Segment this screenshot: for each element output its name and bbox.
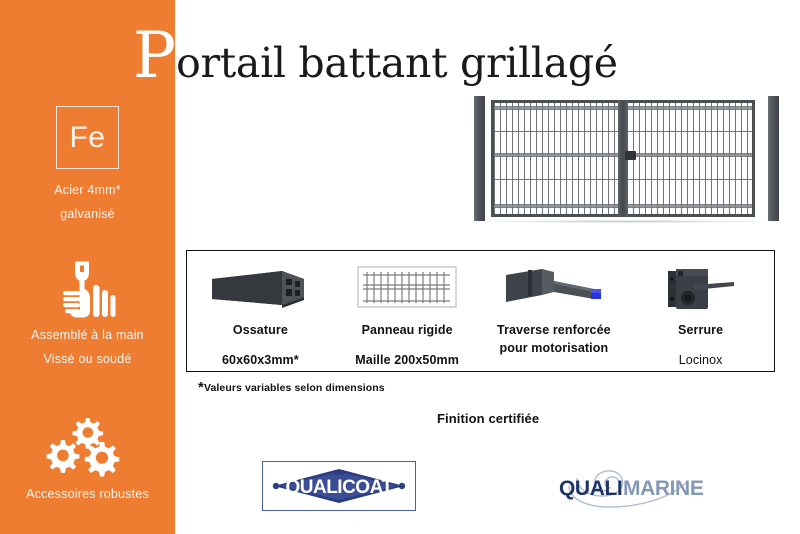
spec-item-traverse: Traverse renforcée pour motorisation xyxy=(481,251,628,357)
qualimarine-logo-text-primary: QUALI xyxy=(559,477,622,500)
page-title-dropcap: P xyxy=(133,19,176,93)
spec-item-serrure-line2: Locinox xyxy=(679,351,723,369)
gate-mesh-line-right-1 xyxy=(627,131,752,132)
qualimarine-logo-text-secondary: MARINE xyxy=(623,477,704,500)
gate-mesh-band-bottom-left xyxy=(494,204,619,208)
gate-post-right xyxy=(768,96,779,221)
gate-mesh-right xyxy=(627,103,752,214)
qualimarine-logo: QUALI MARINE QUALI MARINE xyxy=(550,464,710,510)
lock-icon xyxy=(658,261,744,317)
qualicoat-logo-text: QUALICOAT xyxy=(285,477,393,498)
gate-mesh-left xyxy=(494,103,619,214)
hand-wrench-icon xyxy=(0,255,175,319)
gate-mesh-band-mid-right xyxy=(627,153,752,157)
gate-mesh-band-top-left xyxy=(494,106,619,110)
gate-mesh-band-bottom-right xyxy=(627,204,752,208)
page-title: Portail battant grillagé xyxy=(133,24,618,88)
sidebar-feature-steel: Fe Acier 4mm* galvanisé xyxy=(0,106,175,225)
sidebar-feature-accessories-line1: Accessoires robustes xyxy=(0,485,175,504)
spec-item-panneau-line2: Maille 200x50mm xyxy=(355,351,459,369)
spec-item-ossature-line1: Ossature xyxy=(233,321,288,339)
spec-item-panneau: Panneau rigide Maille 200x50mm xyxy=(334,251,481,369)
spec-item-ossature-line2: 60x60x3mm* xyxy=(222,351,299,369)
footnote: *Valeurs variables selon dimensions xyxy=(198,379,385,396)
frame-profile-icon xyxy=(208,261,312,317)
rigid-mesh-panel-icon xyxy=(357,261,457,317)
sidebar-feature-steel-line2: galvanisé xyxy=(0,205,175,224)
gears-icon xyxy=(0,414,175,478)
sidebar-feature-accessories: Accessoires robustes xyxy=(0,414,175,504)
reinforced-crossbar-icon xyxy=(498,261,610,317)
gate-lock-handle-icon xyxy=(625,151,636,160)
qualicoat-logo: QUALICOAT QUALICOAT xyxy=(262,461,416,511)
spec-item-serrure: Serrure Locinox xyxy=(627,251,774,369)
sidebar-feature-steel-line1: Acier 4mm* xyxy=(0,181,175,200)
spec-item-traverse-line2: pour motorisation xyxy=(500,339,609,357)
gate-leaf-left xyxy=(491,100,622,217)
sidebar-feature-assembly-line2: Vissé ou soudé xyxy=(0,350,175,369)
gate-leaf-right xyxy=(624,100,755,217)
gate-mesh-line-left-2 xyxy=(494,179,619,180)
page-title-rest: ortail battant grillagé xyxy=(176,39,618,87)
gate-mesh-line-right-2 xyxy=(627,179,752,180)
fe-symbol: Fe xyxy=(69,123,105,153)
spec-item-ossature: Ossature 60x60x3mm* xyxy=(187,251,334,369)
gate-mesh-band-top-right xyxy=(627,106,752,110)
specifications-panel: Ossature 60x60x3mm* xyxy=(186,250,775,372)
spec-item-traverse-line1: Traverse renforcée xyxy=(497,321,611,339)
gate-ground-shadow xyxy=(474,220,779,223)
gate-post-left xyxy=(474,96,485,221)
footnote-text: Valeurs variables selon dimensions xyxy=(204,382,385,394)
fe-element-box-icon: Fe xyxy=(56,106,119,169)
sidebar-feature-assembly-line1: Assemblé à la main xyxy=(0,326,175,345)
gate-mesh-line-left-1 xyxy=(494,131,619,132)
certification-heading: Finition certifiée xyxy=(437,411,539,426)
spec-item-panneau-line1: Panneau rigide xyxy=(362,321,453,339)
sidebar-feature-assembly: Assemblé à la main Vissé ou soudé xyxy=(0,255,175,370)
gate-mesh-band-mid-left xyxy=(494,153,619,157)
spec-item-serrure-line1: Serrure xyxy=(678,321,723,339)
datasheet-page: Fe Acier 4mm* galvanisé xyxy=(0,0,800,534)
portail-battant-grillage-photo xyxy=(474,96,779,221)
